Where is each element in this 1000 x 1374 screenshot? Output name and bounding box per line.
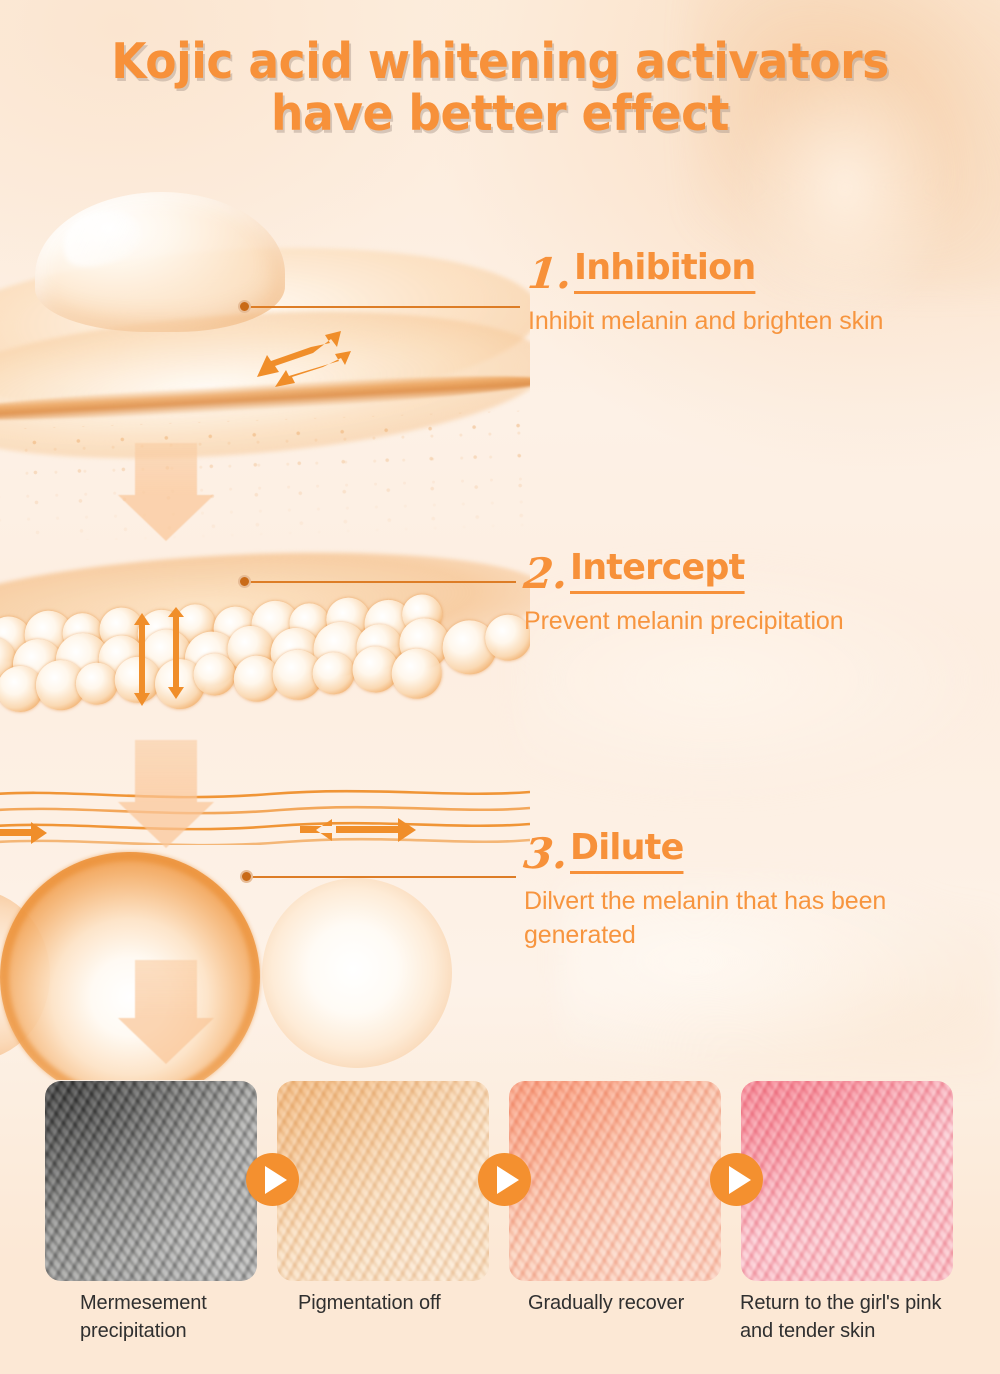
result-caption: Mermesement precipitation — [80, 1289, 295, 1345]
melanin-cell — [442, 619, 498, 675]
melanin-cell — [175, 603, 217, 645]
skin-layer-sheet — [0, 293, 530, 477]
result-photo-beige-skin — [277, 1081, 489, 1281]
melanin-cell — [55, 632, 111, 688]
melanin-cell — [23, 610, 73, 660]
skin-texture — [509, 1081, 721, 1281]
page-title-line-2: have better effect — [35, 88, 965, 140]
dermis-wavy-lines — [0, 780, 530, 845]
result-photo-pink-skin — [741, 1081, 953, 1281]
melanin-sphere — [262, 878, 452, 1068]
step-number: 3. — [522, 834, 570, 874]
result-captions: Mermesement precipitation Pigmentation o… — [0, 1289, 1000, 1374]
leader-line — [248, 581, 516, 583]
skin-dermis-band — [0, 368, 530, 429]
melanin-cell — [312, 651, 356, 695]
large-down-arrow-icon — [118, 740, 214, 848]
melanin-cell — [272, 649, 324, 701]
play-arrow-icon — [246, 1153, 299, 1206]
double-headed-arrow-icon — [245, 325, 375, 395]
play-triangle — [265, 1166, 287, 1194]
step-number: 1. — [526, 254, 574, 294]
leader-line — [248, 306, 520, 308]
melanin-cell — [75, 662, 119, 706]
melanin-sphere — [0, 890, 50, 1060]
result-photo-salmon-skin — [509, 1081, 721, 1281]
melanin-cell — [184, 631, 240, 687]
result-caption: Return to the girl's pink and tender ski… — [740, 1289, 955, 1345]
melanin-cell — [0, 665, 44, 713]
melanin-cell — [227, 625, 275, 673]
leader-dot — [240, 870, 253, 883]
arrow-head — [118, 1018, 214, 1064]
page-title-line-1: Kojic acid whitening activators — [35, 36, 965, 88]
illustration-melanin-dilution — [0, 830, 530, 1080]
play-triangle — [497, 1166, 519, 1194]
melanin-cell — [99, 607, 145, 653]
arrow-shaft — [135, 740, 197, 802]
skin-texture — [277, 1081, 489, 1281]
melanin-cell — [0, 636, 17, 684]
melanin-cell — [154, 658, 206, 710]
melanin-cell — [312, 621, 368, 677]
melanin-cell — [35, 659, 87, 711]
melanin-dots-field — [0, 410, 530, 540]
skin-layer-sheet — [0, 231, 530, 429]
large-down-arrow-icon — [118, 443, 214, 541]
play-arrow-icon — [478, 1153, 531, 1206]
result-photo-grey-dull-skin — [45, 1081, 257, 1281]
melanin-cell — [401, 594, 443, 636]
melanin-cell — [61, 612, 103, 654]
melanin-cell — [137, 609, 187, 659]
leader-line — [250, 876, 516, 878]
result-photo-strip — [0, 1081, 1000, 1291]
large-down-arrow-icon — [118, 960, 214, 1064]
step-title: Intercept — [570, 548, 745, 594]
melanin-cell — [351, 646, 399, 694]
step-heading: 3. Dilute — [524, 828, 954, 874]
play-triangle — [729, 1166, 751, 1194]
melanin-cell — [398, 617, 450, 669]
skin-layer-sheet — [0, 545, 530, 682]
step-inhibition: 1. Inhibition Inhibit melanin and bright… — [528, 248, 883, 338]
step-dilute: 3. Dilute Dilvert the melanin that has b… — [524, 828, 954, 952]
step-intercept: 2. Intercept Prevent melanin precipitati… — [524, 548, 844, 638]
skin-texture — [741, 1081, 953, 1281]
melanin-cell — [364, 599, 414, 649]
melanin-cell — [270, 627, 322, 679]
step-description: Dilvert the melanin that has been genera… — [524, 884, 954, 952]
illustration-water-droplet-on-skin — [0, 170, 530, 540]
step-description: Inhibit melanin and brighten skin — [528, 304, 883, 338]
melanin-cell — [12, 638, 64, 690]
step-heading: 2. Intercept — [524, 548, 844, 594]
page-title: Kojic acid whitening activators have bet… — [0, 36, 1000, 140]
step-title: Dilute — [570, 828, 684, 874]
melanin-cell — [193, 653, 237, 697]
arrow-shaft — [135, 443, 197, 495]
melanin-cell — [326, 597, 372, 643]
play-arrow-icon — [710, 1153, 763, 1206]
melanin-cell — [213, 606, 259, 652]
step-heading: 1. Inhibition — [528, 248, 883, 294]
vertical-double-headed-arrow-icon — [118, 607, 198, 712]
arrow-shaft — [135, 960, 197, 1018]
melanin-cell — [356, 623, 404, 671]
result-caption: Pigmentation off — [298, 1289, 513, 1317]
step-number: 2. — [522, 554, 570, 594]
melanin-cell — [233, 655, 281, 703]
horizontal-double-headed-arrow-icon — [278, 813, 448, 845]
melanin-cell — [288, 603, 330, 645]
horizontal-double-headed-arrow-icon — [0, 817, 115, 845]
infographic-page: Kojic acid whitening activators have bet… — [0, 0, 1000, 1374]
result-caption: Gradually recover — [528, 1289, 743, 1317]
step-description: Prevent melanin precipitation — [524, 604, 844, 638]
arrow-head — [118, 495, 214, 541]
melanin-cell — [141, 629, 193, 681]
leader-dot — [238, 300, 251, 313]
droplet-highlight — [56, 201, 146, 275]
step-title: Inhibition — [574, 248, 755, 294]
leader-dot — [238, 575, 251, 588]
melanin-cell — [250, 600, 300, 650]
melanin-cell — [114, 656, 162, 704]
melanin-cell-layer — [0, 587, 530, 733]
illustration-melanin-cell-layer — [0, 545, 530, 845]
arrow-head — [118, 802, 214, 848]
melanin-cell — [0, 616, 32, 662]
skin-texture — [45, 1081, 257, 1281]
melanin-cell — [98, 635, 146, 683]
melanin-cell — [391, 648, 443, 700]
